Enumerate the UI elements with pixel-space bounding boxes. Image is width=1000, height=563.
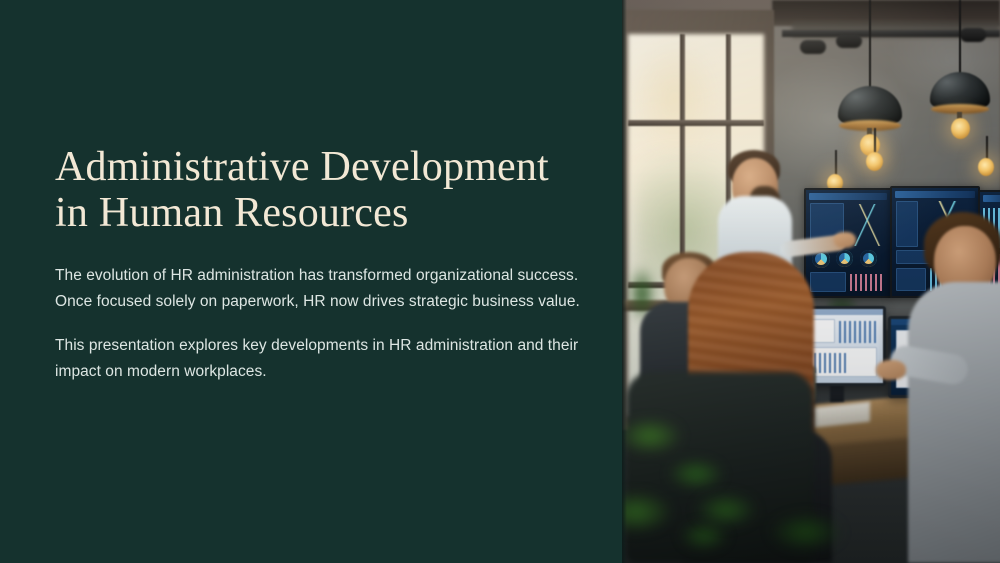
office-photo: [622, 0, 1000, 563]
pendant-bulb-5: [978, 158, 994, 176]
title-line-1: Administrative Development: [55, 144, 549, 190]
pendant-bulb-3: [866, 152, 883, 171]
dashboard-header-1: [809, 193, 887, 200]
presentation-slide: Administrative Developmentin Human Resou…: [0, 0, 1000, 563]
text-panel: Administrative Developmentin Human Resou…: [0, 0, 622, 563]
dashboard-donut-2: [836, 250, 853, 267]
right-colleague-hand: [876, 360, 906, 380]
window-mullion-horizontal-1: [628, 120, 764, 126]
pendant-bulb-2: [951, 118, 970, 139]
pendant-cord-2: [959, 0, 961, 78]
paragraph-intro: The evolution of HR administration has t…: [55, 263, 585, 315]
track-light-head-1: [800, 40, 826, 54]
track-light-head-2: [836, 34, 862, 48]
desk-bar-chart-1: [839, 321, 877, 343]
right-colleague-torso: [908, 282, 1000, 563]
dashboard-card-2b: [896, 268, 926, 291]
dashboard-header-3: [983, 195, 1000, 202]
dashboard-card-2a: [896, 201, 918, 247]
title-line-2: in Human Resources: [55, 190, 409, 236]
presenter-hand: [834, 232, 856, 248]
body-copy: The evolution of HR administration has t…: [55, 263, 585, 385]
dashboard-bar-chart-1: [850, 274, 884, 291]
foreground-foliage-bottom: [686, 470, 866, 563]
pendant-cord-1: [869, 0, 871, 92]
track-light-head-3: [960, 28, 986, 42]
window-daylight-glow: [630, 40, 720, 160]
dashboard-header-2: [895, 191, 975, 198]
dashboard-donut-3: [860, 250, 877, 267]
page-title: Administrative Developmentin Human Resou…: [55, 144, 595, 236]
dashboard-card-1b: [810, 272, 846, 292]
paragraph-scope: This presentation explores key developme…: [55, 333, 585, 385]
